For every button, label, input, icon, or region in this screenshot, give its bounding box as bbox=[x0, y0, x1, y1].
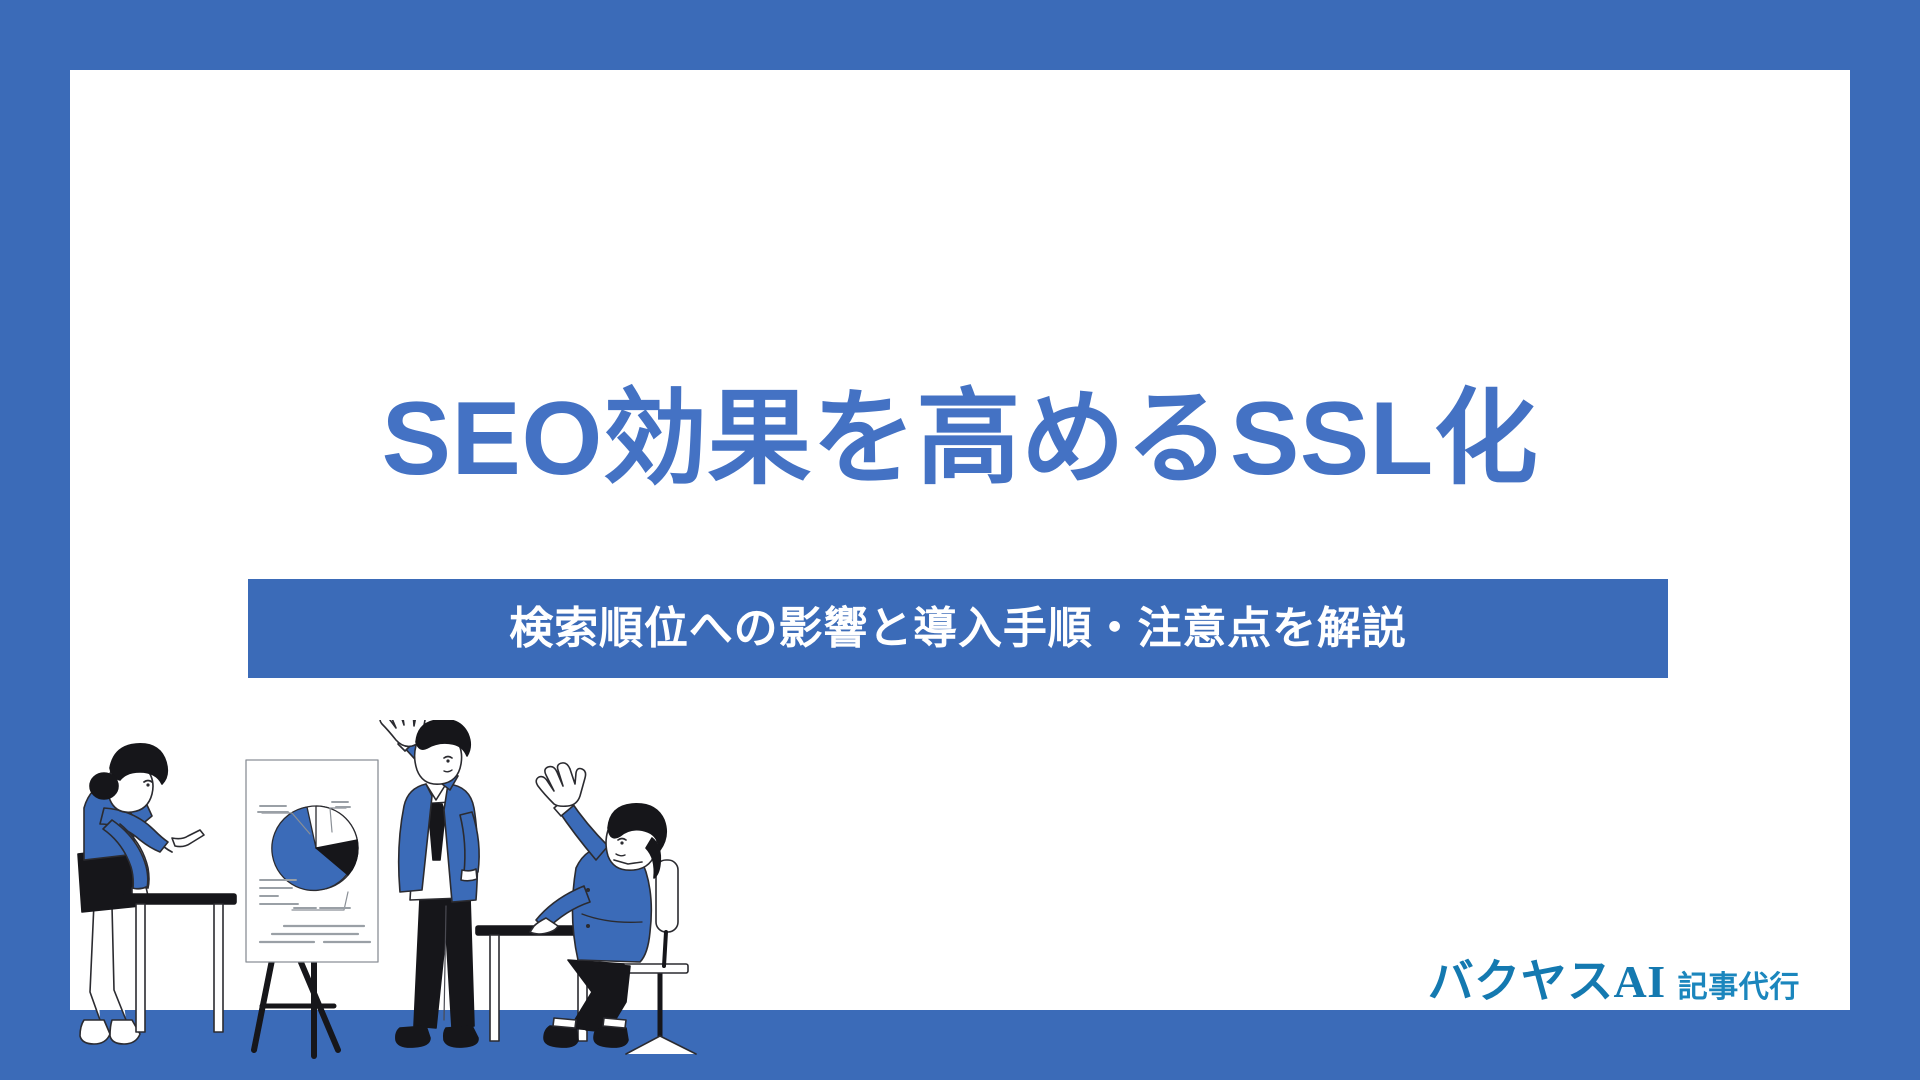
brand-logo-sub: 記事代行 bbox=[1678, 973, 1800, 1003]
subtitle-banner: 検索順位への影響と導入手順・注意点を解説 bbox=[248, 579, 1668, 678]
subtitle-text: 検索順位への影響と導入手順・注意点を解説 bbox=[509, 607, 1407, 651]
brand-logo-main: バクヤスAI bbox=[1428, 959, 1666, 1005]
business-team-presentation-illustration bbox=[48, 720, 768, 1080]
poster-pie-chart bbox=[272, 806, 358, 890]
slide-canvas: SEO効果を高めるSSL化 検索順位への影響と導入手順・注意点を解説 bbox=[0, 0, 1920, 1080]
figure-man-standing-raised-hand bbox=[380, 720, 479, 1047]
brand-logo: バクヤスAI 記事代行 bbox=[1428, 959, 1800, 1005]
